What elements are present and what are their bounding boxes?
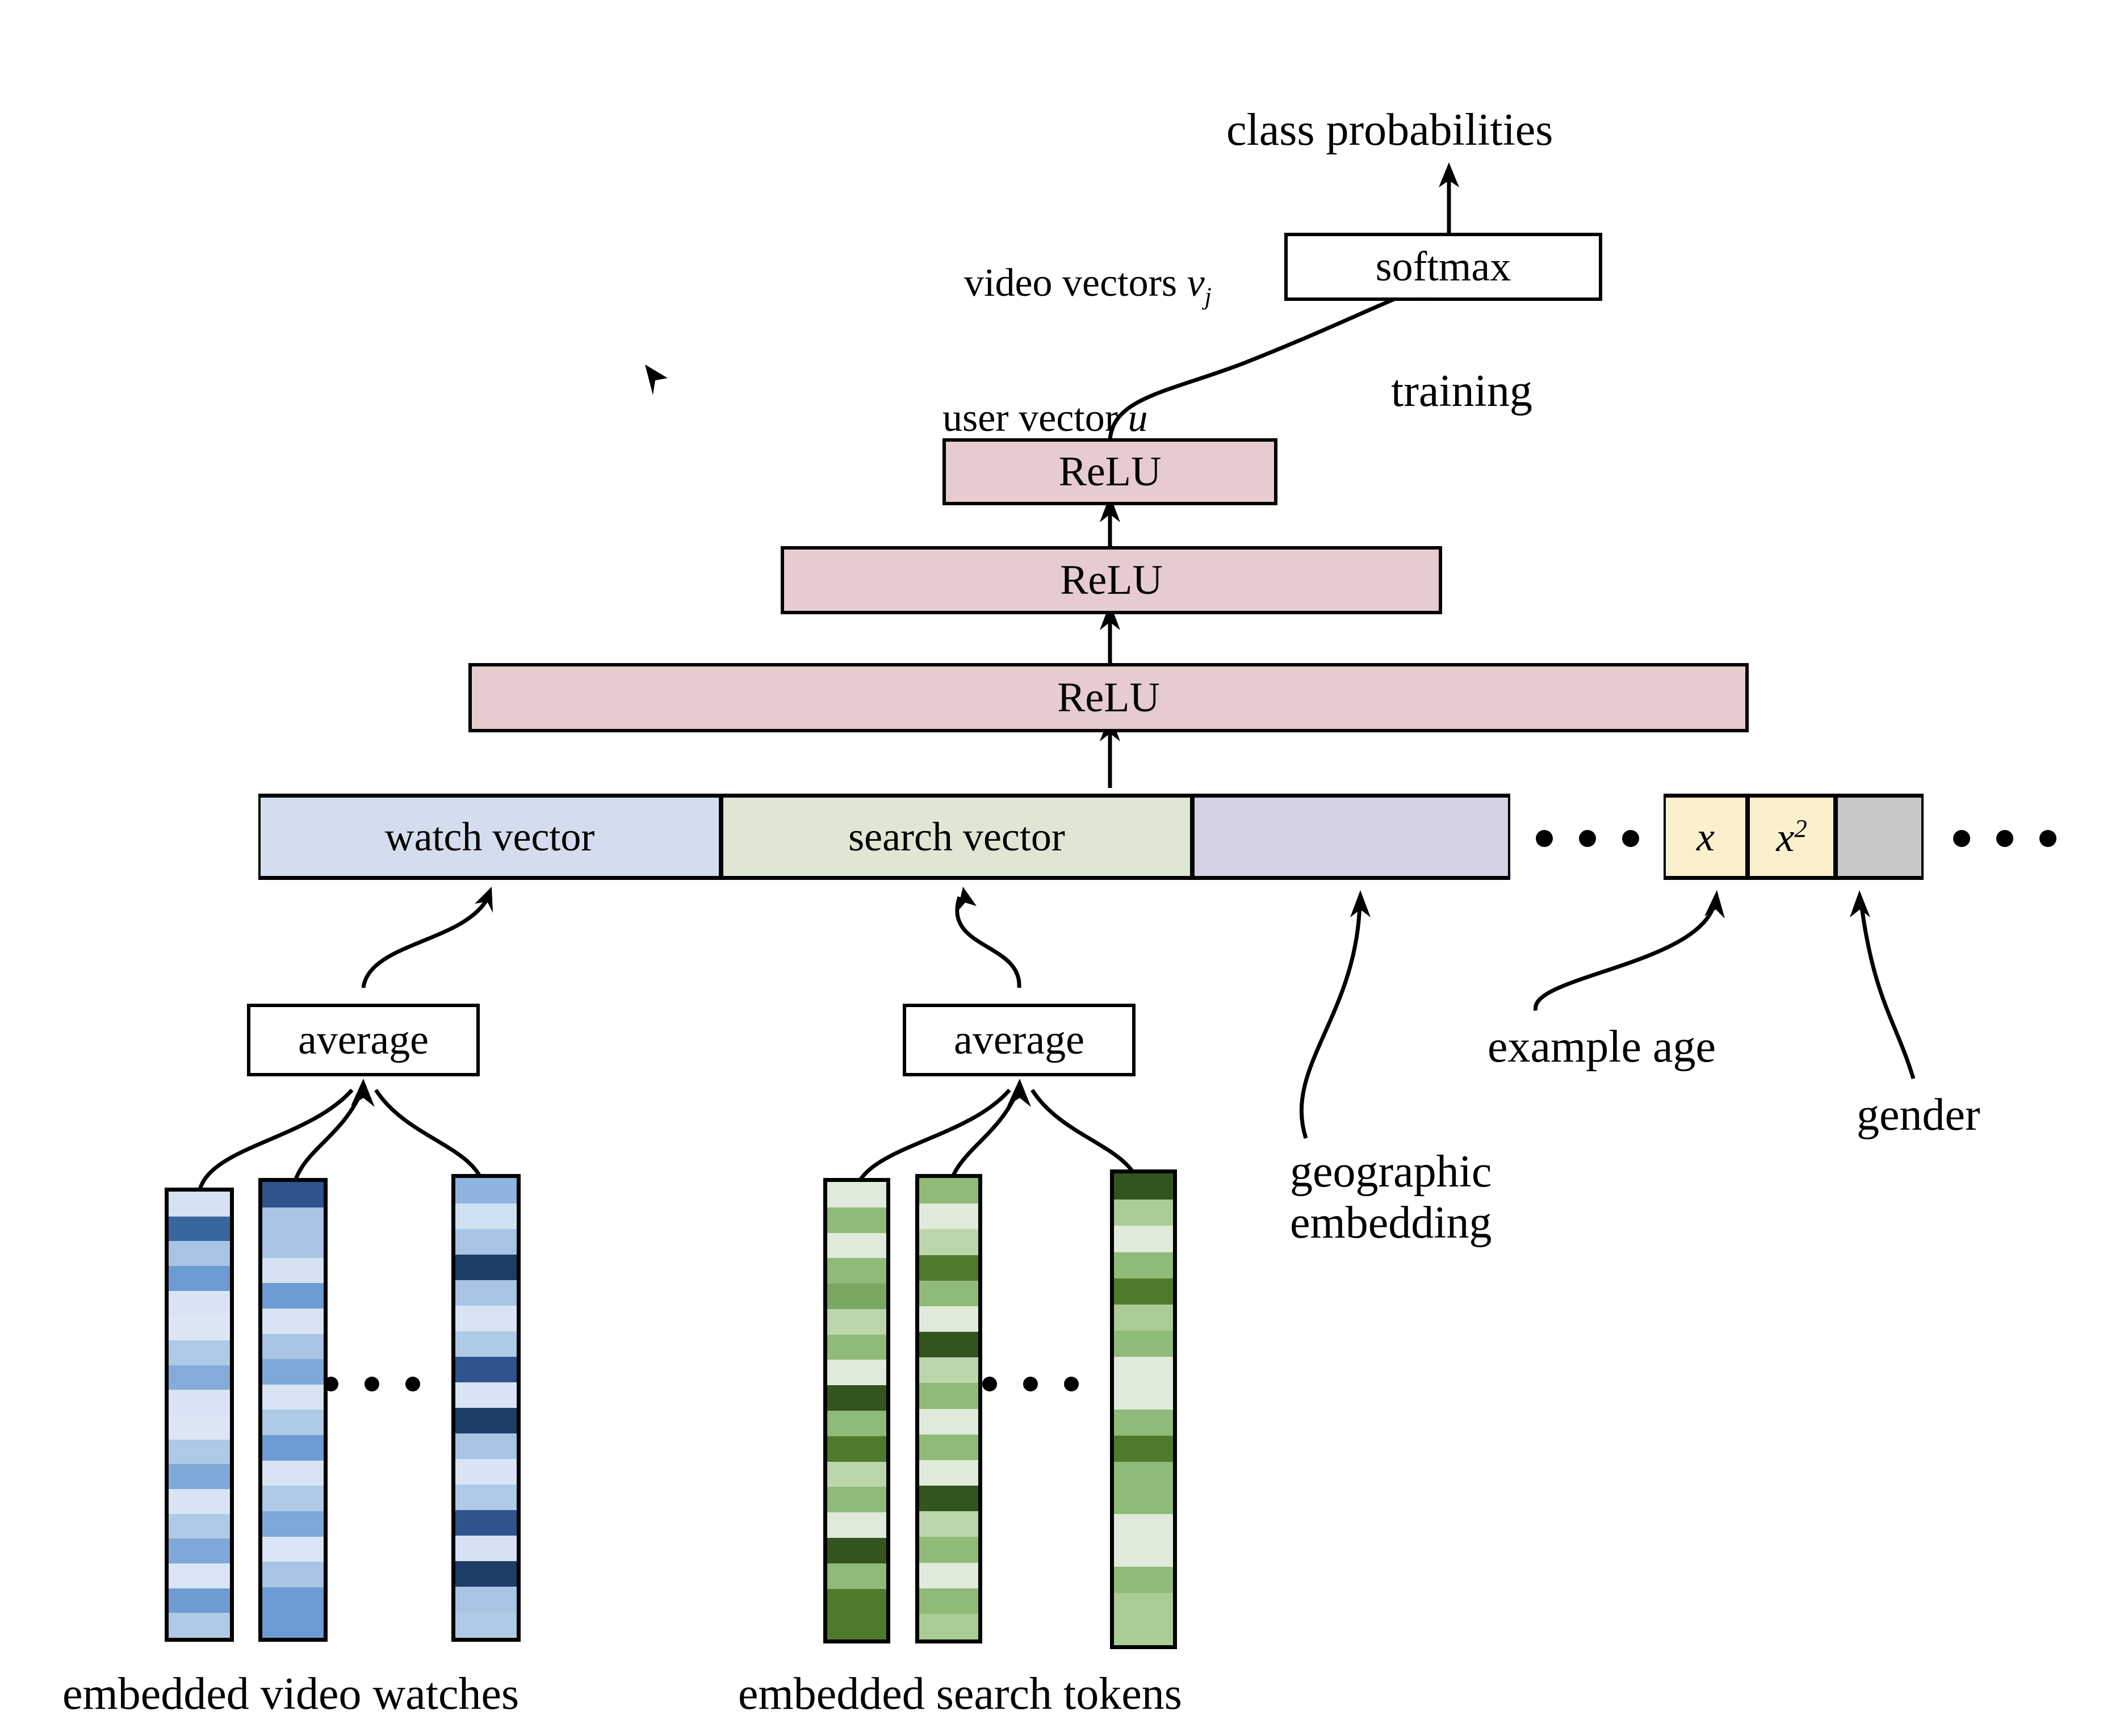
class-probabilities-label: class probabilities	[1226, 105, 1553, 156]
embedding-cell	[455, 1382, 517, 1408]
embedded-video-watches-label: embedded video watches	[62, 1669, 519, 1720]
example-age-x-segment[interactable]: x	[1664, 794, 1748, 880]
embedding-cell	[919, 1588, 978, 1614]
embedding-cell	[262, 1207, 324, 1233]
embedding-cell	[827, 1563, 886, 1589]
softmax-box[interactable]: softmax	[1284, 233, 1602, 301]
search-vector-label: search vector	[848, 816, 1065, 857]
curves-watch-embeddings-to-average	[199, 1079, 485, 1195]
concat-ellipsis	[1536, 830, 1639, 847]
embedding-cell	[919, 1357, 978, 1383]
embedding-cell	[919, 1614, 978, 1639]
embedding-cell	[169, 1266, 230, 1291]
embedding-cell	[1114, 1619, 1173, 1645]
embedding-cell	[169, 1588, 230, 1613]
embedding-cell	[169, 1217, 230, 1242]
example-age-x-squared-segment[interactable]: x2	[1748, 794, 1836, 880]
embedding-cell	[1114, 1305, 1173, 1331]
average-left-label: average	[298, 1019, 429, 1061]
embedding-cell	[455, 1229, 517, 1255]
embedding-cell	[919, 1460, 978, 1486]
embedding-cell	[262, 1182, 324, 1207]
embedding-cell	[919, 1178, 978, 1204]
embedding-cell	[1114, 1540, 1173, 1566]
embedding-cell	[455, 1485, 517, 1510]
video-vectors-symbol: v	[1187, 261, 1205, 305]
embedding-cell	[919, 1537, 978, 1562]
embedding-cell	[827, 1360, 886, 1385]
embedded-search-tokens-label: embedded search tokens	[738, 1669, 1182, 1720]
embedding-cell	[1114, 1383, 1173, 1409]
relu-3-label: ReLU	[1057, 677, 1160, 719]
embedding-cell	[455, 1510, 517, 1536]
curve-average-right-to-search-vector	[957, 887, 1019, 988]
embedding-cell	[169, 1538, 230, 1563]
embedding-cell	[262, 1334, 324, 1360]
watch-embedding-column-n[interactable]	[451, 1174, 521, 1642]
embedding-cell	[455, 1306, 517, 1331]
feature-x2-exponent: 2	[1794, 814, 1807, 842]
embedding-cell	[262, 1587, 324, 1613]
embedding-cell	[455, 1536, 517, 1561]
relu-2-label: ReLU	[1060, 559, 1163, 601]
embedding-cell	[262, 1359, 324, 1385]
example-age-label: example age	[1488, 1022, 1716, 1073]
embedding-cell	[262, 1258, 324, 1284]
embedding-cell	[262, 1461, 324, 1486]
embedding-cell	[262, 1435, 324, 1461]
embedding-cell	[919, 1563, 978, 1588]
embedding-cell	[262, 1612, 324, 1638]
embedding-cell	[1114, 1436, 1173, 1462]
embedding-cell	[262, 1385, 324, 1410]
embedding-cell	[827, 1538, 886, 1563]
embedding-cell	[169, 1514, 230, 1539]
embedding-cell	[919, 1486, 978, 1511]
embedding-cell	[262, 1511, 324, 1537]
embedding-cell	[455, 1331, 517, 1357]
embedding-cell	[827, 1258, 886, 1284]
curves-search-embeddings-to-average	[854, 1079, 1141, 1195]
watch-embedding-column-2[interactable]	[258, 1178, 328, 1642]
mouse-cursor-icon	[642, 363, 676, 409]
embedding-cell	[169, 1365, 230, 1390]
embedding-cell	[169, 1440, 230, 1465]
training-label: training	[1391, 366, 1532, 417]
video-vectors-label: video vectors vj	[924, 217, 1212, 355]
embedding-cell	[262, 1562, 324, 1587]
embedding-cell	[827, 1335, 886, 1360]
embedding-cell	[169, 1613, 230, 1638]
embedding-cell	[919, 1255, 978, 1281]
embedding-cell	[919, 1435, 978, 1460]
embedding-cell	[827, 1436, 886, 1462]
relu-layer-1[interactable]: ReLU	[942, 438, 1277, 505]
video-vectors-subscript: j	[1205, 283, 1212, 310]
embedding-cell	[919, 1229, 978, 1255]
embedding-cell	[919, 1281, 978, 1306]
embedding-cell	[169, 1192, 230, 1217]
relu-layer-2[interactable]: ReLU	[781, 546, 1442, 614]
watch-vector-segment[interactable]: watch vector	[258, 794, 721, 880]
embedding-cell	[919, 1409, 978, 1435]
embedding-cell	[827, 1462, 886, 1487]
embedding-cell	[827, 1589, 886, 1615]
embedding-cell	[827, 1614, 886, 1639]
embedding-cell	[262, 1486, 324, 1511]
embedding-cell	[455, 1178, 517, 1204]
embedding-cell	[1114, 1331, 1173, 1357]
embedding-cell	[1114, 1173, 1173, 1200]
search-vector-segment[interactable]: search vector	[721, 794, 1192, 880]
curve-gender-to-segment	[1850, 890, 1913, 1079]
search-columns-ellipsis	[982, 1377, 1079, 1391]
watch-embedding-column-1[interactable]	[165, 1188, 234, 1642]
embedding-cell	[262, 1232, 324, 1258]
embedding-cell	[169, 1241, 230, 1266]
embedding-cell	[827, 1207, 886, 1233]
curve-geographic-embedding-to-segment	[1301, 890, 1371, 1138]
embedding-cell	[1114, 1567, 1173, 1593]
average-box-search[interactable]: average	[903, 1004, 1136, 1076]
embedding-cell	[1114, 1514, 1173, 1540]
embedding-cell	[1114, 1278, 1173, 1305]
embedding-cell	[169, 1489, 230, 1514]
search-embedding-column-1[interactable]	[823, 1178, 890, 1643]
embedding-cell	[455, 1280, 517, 1306]
embedding-cell	[1114, 1357, 1173, 1383]
gender-label: gender	[1857, 1090, 1980, 1141]
embedding-cell	[262, 1537, 324, 1562]
embedding-cell	[1114, 1226, 1173, 1252]
embedding-cell	[455, 1587, 517, 1612]
embedding-cell	[827, 1487, 886, 1512]
embedding-cell	[455, 1408, 517, 1433]
embedding-cell	[169, 1340, 230, 1365]
embedding-cell	[455, 1433, 517, 1459]
embedding-cell	[169, 1415, 230, 1440]
embedding-cell	[827, 1385, 886, 1411]
watch-vector-label: watch vector	[385, 816, 595, 857]
embedding-cell	[169, 1291, 230, 1316]
embedding-cell	[1114, 1200, 1173, 1226]
embedding-cell	[1114, 1462, 1173, 1488]
embedding-cell	[1114, 1410, 1173, 1436]
geographic-embedding-segment[interactable]	[1192, 794, 1510, 880]
feature-x-squared-label: x2	[1776, 816, 1807, 858]
feature-x-label: x	[1696, 816, 1715, 857]
embedding-cell	[455, 1357, 517, 1382]
embedding-cell	[827, 1411, 886, 1436]
embedding-cell	[169, 1315, 230, 1340]
video-vectors-text: video vectors	[964, 261, 1187, 305]
average-box-watch[interactable]: average	[247, 1004, 480, 1076]
gender-segment[interactable]	[1836, 794, 1924, 880]
embedding-cell	[827, 1284, 886, 1309]
geographic-embedding-label: geographic embedding	[1290, 1147, 1492, 1248]
embedding-cell	[169, 1390, 230, 1415]
embedding-cell	[262, 1410, 324, 1435]
curve-average-left-to-watch-vector	[363, 887, 493, 988]
embedding-cell	[262, 1309, 324, 1334]
average-right-label: average	[954, 1019, 1084, 1061]
embedding-cell	[919, 1383, 978, 1408]
trailing-ellipsis	[1953, 830, 2056, 847]
diagram-canvas: class probabilities video vectors vj use…	[0, 0, 2103, 1736]
softmax-label: softmax	[1376, 246, 1511, 288]
embedding-cell	[919, 1306, 978, 1332]
relu-1-label: ReLU	[1059, 451, 1162, 493]
embedding-cell	[455, 1459, 517, 1485]
embedding-cell	[827, 1182, 886, 1207]
curve-example-age-to-segment	[1535, 890, 1725, 1010]
search-embedding-column-2[interactable]	[915, 1174, 982, 1643]
search-embedding-column-n[interactable]	[1110, 1169, 1177, 1649]
embedding-cell	[827, 1233, 886, 1259]
user-vector-symbol: u	[1128, 396, 1148, 440]
user-vector-text: user vector	[942, 396, 1128, 440]
arrow-softmax-to-class-probabilities	[1439, 162, 1459, 233]
embedding-cell	[169, 1464, 230, 1489]
embedding-cell	[919, 1511, 978, 1537]
embedding-cell	[1114, 1488, 1173, 1514]
relu-layer-3[interactable]: ReLU	[468, 663, 1749, 732]
embedding-cell	[827, 1309, 886, 1335]
embedding-cell	[455, 1561, 517, 1587]
embedding-cell	[919, 1332, 978, 1357]
embedding-cell	[455, 1612, 517, 1638]
embedding-cell	[1114, 1593, 1173, 1619]
embedding-cell	[919, 1204, 978, 1229]
feature-x2-base: x	[1776, 815, 1794, 860]
embedding-cell	[827, 1512, 886, 1538]
embedding-cell	[455, 1255, 517, 1280]
embedding-cell	[169, 1563, 230, 1588]
embedding-cell	[1114, 1252, 1173, 1278]
embedding-cell	[262, 1283, 324, 1309]
watch-columns-ellipsis	[324, 1377, 420, 1391]
embedding-cell	[455, 1204, 517, 1229]
